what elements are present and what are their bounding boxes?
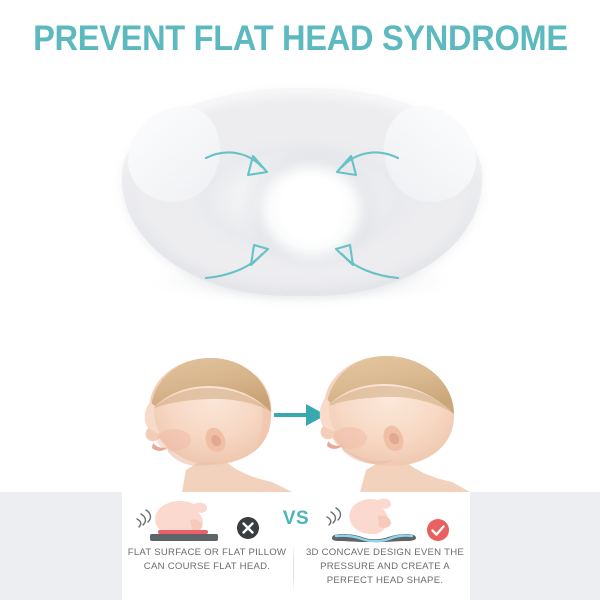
pressure-arrow-bottom-left: [206, 245, 268, 278]
page-title: PREVENT FLAT HEAD SYNDROME: [33, 19, 568, 59]
baby-head-shaping-pillow: [112, 82, 492, 314]
column-divider: [293, 544, 294, 592]
before-after-section: [0, 340, 600, 492]
header-band: PREVENT FLAT HEAD SYNDROME: [0, 0, 600, 78]
pressure-arrow-top-left: [206, 152, 267, 175]
caption-flat-pillow: FLAT SURFACE OR FLAT PILLOW CAN COURSE F…: [126, 546, 288, 574]
pressure-arrows-group: [112, 82, 492, 314]
hero-section: [0, 78, 600, 340]
vs-label: VS: [272, 508, 320, 530]
flat-pillow-illustration: [128, 494, 276, 546]
caption-concave-pillow: 3D CONCAVE DESIGN EVEN THE PRESSURE AND …: [304, 546, 466, 588]
comparison-icon-row: VS: [122, 494, 470, 546]
comparison-section: VS FLAT SURFACE OR: [122, 492, 470, 600]
right-side-panel: [470, 492, 600, 600]
pressure-arrow-top-right: [337, 152, 398, 175]
concave-pillow-illustration: [316, 494, 464, 546]
pressure-arrow-bottom-right: [336, 245, 398, 278]
left-side-panel: [0, 492, 122, 600]
baby-photo-after: [300, 340, 474, 492]
